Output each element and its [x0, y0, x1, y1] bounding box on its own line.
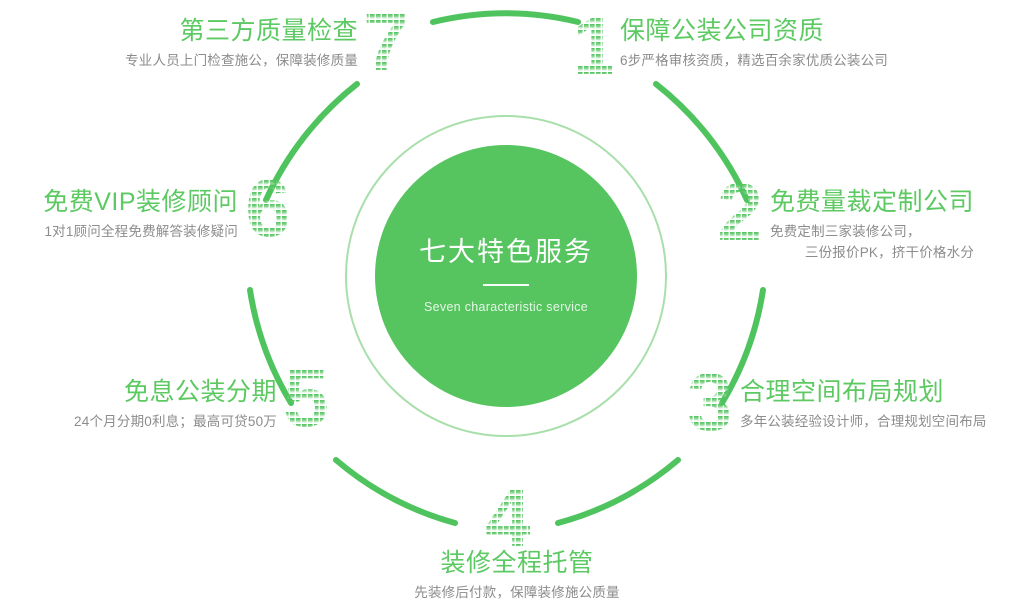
numeral-6: 6: [246, 168, 290, 244]
service-item-5-desc-line-1: 24个月分期0利息；最高可贷50万: [0, 412, 277, 433]
numeral-5: 5: [284, 358, 328, 434]
service-item-2[interactable]: 免费量裁定制公司 免费定制三家装修公司， 三份报价PK，挤干价格水分: [770, 188, 974, 264]
service-item-2-desc-line-2: 三份报价PK，挤干价格水分: [770, 243, 974, 264]
service-item-3[interactable]: 合理空间布局规划 多年公装经验设计师，合理规划空间布局: [740, 378, 987, 433]
infographic-canvas: 1 2: [0, 0, 1034, 615]
service-item-6[interactable]: 免费VIP装修顾问 1对1顾问全程免费解答装修疑问: [0, 188, 238, 243]
service-item-1-title: 保障公装公司资质: [620, 17, 888, 46]
hub-core: 七大特色服务 Seven characteristic service: [375, 145, 637, 407]
numeral-4: 4: [486, 478, 530, 554]
service-item-4-title: 装修全程托管: [0, 549, 1034, 578]
service-item-5[interactable]: 免息公装分期 24个月分期0利息；最高可贷50万: [0, 378, 277, 433]
service-item-7[interactable]: 第三方质量检查 专业人员上门检查施公，保障装修质量: [0, 17, 358, 72]
hub-divider: [483, 284, 529, 286]
numeral-7: 7: [364, 2, 408, 78]
svg-text:7: 7: [364, 2, 408, 78]
ring-arc-segment-upper-right: [656, 84, 747, 200]
svg-text:4: 4: [486, 478, 530, 554]
hub-title: 七大特色服务: [419, 238, 593, 268]
svg-text:2: 2: [718, 172, 762, 248]
service-item-6-title: 免费VIP装修顾问: [0, 188, 238, 217]
svg-text:3: 3: [688, 362, 732, 438]
service-item-7-desc-line-1: 专业人员上门检查施公，保障装修质量: [0, 51, 358, 72]
svg-text:6: 6: [246, 168, 290, 244]
ring-arc-segment-bottom-left: [336, 460, 455, 523]
numeral-3: 3: [688, 362, 732, 438]
service-item-3-desc-line-1: 多年公装经验设计师，合理规划空间布局: [740, 412, 987, 433]
ring-arc-segment-bottom-right: [558, 460, 678, 523]
hub-subtitle: Seven characteristic service: [424, 300, 588, 314]
service-item-1-desc-line-1: 6步严格审核资质，精选百余家优质公装公司: [620, 51, 888, 72]
service-item-4[interactable]: 装修全程托管 先装修后付款，保障装修施公质量: [0, 549, 1034, 604]
numeral-1: 1: [578, 6, 612, 82]
service-item-2-title: 免费量裁定制公司: [770, 188, 974, 217]
service-item-7-title: 第三方质量检查: [0, 17, 358, 46]
service-item-6-desc-line-1: 1对1顾问全程免费解答装修疑问: [0, 222, 238, 243]
svg-text:1: 1: [578, 6, 612, 82]
service-item-3-title: 合理空间布局规划: [740, 378, 987, 407]
numeral-2: 2: [718, 172, 762, 248]
service-item-2-desc-line-1: 免费定制三家装修公司，: [770, 222, 974, 243]
service-item-4-desc-line-1: 先装修后付款，保障装修施公质量: [0, 583, 1034, 604]
service-item-1[interactable]: 保障公装公司资质 6步严格审核资质，精选百余家优质公装公司: [620, 17, 888, 72]
ring-arc-segment-top: [433, 13, 578, 22]
svg-text:5: 5: [284, 358, 328, 434]
service-item-5-title: 免息公装分期: [0, 378, 277, 407]
ring-arc-segment-upper-left: [266, 84, 357, 200]
